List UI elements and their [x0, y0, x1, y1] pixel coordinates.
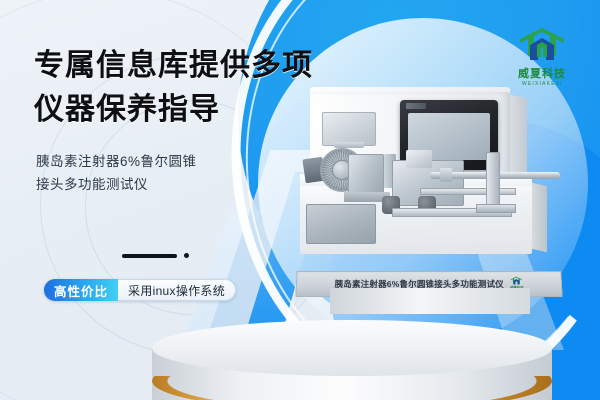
machine-tray — [306, 204, 376, 244]
feature-badge: 高性价比 采用inux操作系统 — [44, 279, 236, 301]
podium-surface — [152, 320, 552, 376]
machine-plate-lip — [334, 142, 364, 148]
divider-bar — [122, 254, 177, 258]
podium-neck — [330, 288, 530, 314]
product-machine-image — [300, 92, 568, 288]
badge-highlight-label: 高性价比 — [44, 279, 118, 301]
caption-hexagon-emblem-icon — [510, 276, 523, 286]
headline: 专属信息库提供多项 仪器保养指导 — [34, 44, 334, 132]
divider — [122, 253, 189, 258]
machine-mounting-plate — [322, 112, 376, 146]
badge-os-label: 采用inux操作系统 — [118, 279, 236, 301]
brand-name-en: WEIXIAKEJI — [504, 80, 580, 88]
screen-brand-mark-icon — [406, 103, 426, 109]
machine-rod-collar — [440, 168, 452, 182]
divider-dot — [184, 253, 189, 258]
subtitle-line-2: 接头多功能测试仪 — [36, 173, 276, 196]
machine-fixture-top — [406, 150, 432, 168]
brand-logo: 威夏科技 WEIXIAKEJI — [504, 26, 580, 88]
promo-banner: 专属信息库提供多项 仪器保养指导 胰岛素注射器6%鲁尔圆锥 接头多功能测试仪 高… — [0, 0, 600, 400]
hexagon-emblem-icon — [516, 26, 568, 66]
machine-motor-housing — [348, 154, 384, 194]
machine-bracket-foot — [476, 204, 516, 213]
machine-upper-rail — [420, 188, 516, 195]
headline-line-2: 仪器保养指导 — [34, 88, 334, 132]
subtitle-line-1: 胰岛素注射器6%鲁尔圆锥 — [36, 150, 276, 173]
brand-name-cn: 威夏科技 — [504, 68, 580, 80]
machine-end-bracket — [486, 152, 500, 212]
subtitle: 胰岛素注射器6%鲁尔圆锥 接头多功能测试仪 — [36, 150, 276, 196]
headline-line-1: 专属信息库提供多项 — [34, 49, 313, 82]
